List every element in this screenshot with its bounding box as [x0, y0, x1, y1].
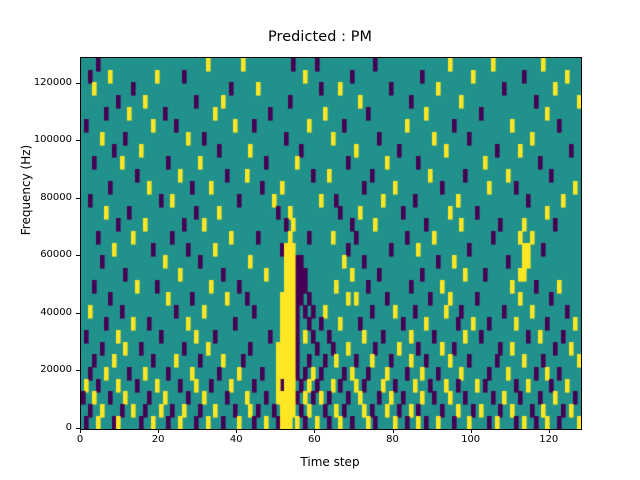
- y-tick: [76, 313, 80, 314]
- y-tick-label: 60000: [8, 249, 72, 260]
- x-tick: [549, 429, 550, 433]
- x-tick-label: 60: [284, 434, 344, 445]
- y-tick: [76, 198, 80, 199]
- y-tick: [76, 255, 80, 256]
- x-tick-label: 80: [363, 434, 423, 445]
- y-tick-label: 100000: [8, 134, 72, 145]
- x-axis-label: Time step: [80, 455, 580, 469]
- y-tick-label: 120000: [8, 77, 72, 88]
- y-tick: [76, 83, 80, 84]
- x-tick: [314, 429, 315, 433]
- y-tick: [76, 370, 80, 371]
- heatmap-canvas: [81, 58, 581, 429]
- x-tick-label: 40: [206, 434, 266, 445]
- y-tick-label: 40000: [8, 307, 72, 318]
- y-tick: [76, 140, 80, 141]
- x-tick-label: 100: [441, 434, 501, 445]
- x-tick: [471, 429, 472, 433]
- y-tick-label: 80000: [8, 192, 72, 203]
- y-tick-label: 0: [8, 422, 72, 433]
- x-tick-label: 20: [128, 434, 188, 445]
- heatmap-axes: [80, 57, 582, 430]
- page-title: Predicted : PM: [0, 29, 640, 45]
- x-tick: [158, 429, 159, 433]
- y-tick: [76, 428, 80, 429]
- x-tick-label: 0: [50, 434, 110, 445]
- x-tick: [80, 429, 81, 433]
- x-tick: [236, 429, 237, 433]
- x-tick: [393, 429, 394, 433]
- matplotlib-figure: Predicted : PM Frequency (Hz) 0204060801…: [0, 0, 640, 480]
- x-tick-label: 120: [519, 434, 579, 445]
- y-tick-label: 20000: [8, 364, 72, 375]
